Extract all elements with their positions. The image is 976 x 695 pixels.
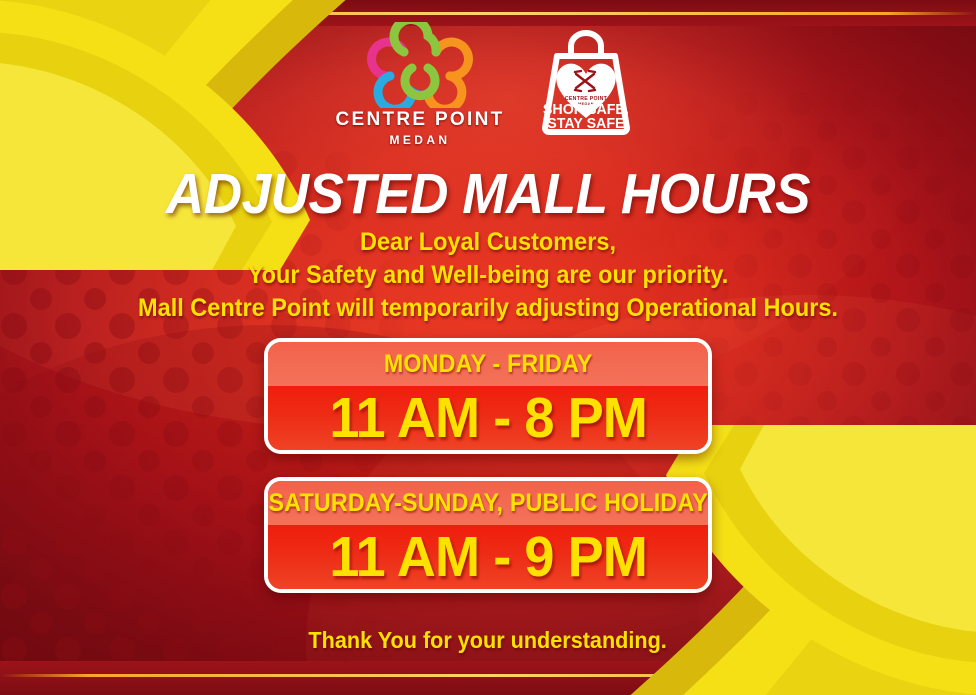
hours-card-weekday-label: MONDAY - FRIDAY xyxy=(384,350,593,379)
interlocking-rings-logo-icon xyxy=(366,22,474,108)
hours-card-weekend-header: SATURDAY-SUNDAY, PUBLIC HOLIDAY xyxy=(268,481,708,525)
hours-card-weekend-label: SATURDAY-SUNDAY, PUBLIC HOLIDAY xyxy=(268,489,707,518)
poster: CENTRE POINT MEDAN CENTRE POINT MEDAN SH… xyxy=(0,0,976,695)
hours-card-weekday-header: MONDAY - FRIDAY xyxy=(268,342,708,386)
shopping-bag-icon: CENTRE POINT MEDAN SHOP SAFE, STAY SAFE xyxy=(531,24,641,136)
poster-header: CENTRE POINT MEDAN CENTRE POINT MEDAN SH… xyxy=(0,22,976,147)
hours-card-weekday-value: 11 AM - 8 PM xyxy=(329,390,647,447)
brand-sub: MEDAN xyxy=(335,133,505,147)
top-gold-hairline xyxy=(0,12,976,15)
footer-note-text: Thank You for your understanding. xyxy=(309,627,667,654)
bottom-band xyxy=(0,661,976,695)
bottom-gold-hairline xyxy=(0,674,976,677)
hours-card-weekday-body: 11 AM - 8 PM xyxy=(268,386,708,450)
message-line-2: Your Safety and Well-being are our prior… xyxy=(29,261,946,290)
hours-card-weekday: MONDAY - FRIDAY 11 AM - 8 PM xyxy=(264,338,712,454)
brand-name: CENTRE POINT xyxy=(335,109,505,131)
hours-card-weekend-body: 11 AM - 9 PM xyxy=(268,525,708,589)
page-title: ADJUSTED MALL HOURS xyxy=(34,166,942,223)
shop-safe-line2: STAY SAFE xyxy=(547,116,624,132)
message-line-3: Mall Centre Point will temporarily adjus… xyxy=(29,294,946,323)
hours-card-weekend: SATURDAY-SUNDAY, PUBLIC HOLIDAY 11 AM - … xyxy=(264,477,712,593)
message-block: Dear Loyal Customers, Your Safety and We… xyxy=(0,228,976,327)
hours-list: MONDAY - FRIDAY 11 AM - 8 PM SATURDAY-SU… xyxy=(0,338,976,593)
hours-card-weekend-value: 11 AM - 9 PM xyxy=(329,529,647,586)
message-line-1: Dear Loyal Customers, xyxy=(29,228,946,257)
footer-note: Thank You for your understanding. xyxy=(0,627,976,654)
brand-logo: CENTRE POINT MEDAN xyxy=(335,22,505,147)
